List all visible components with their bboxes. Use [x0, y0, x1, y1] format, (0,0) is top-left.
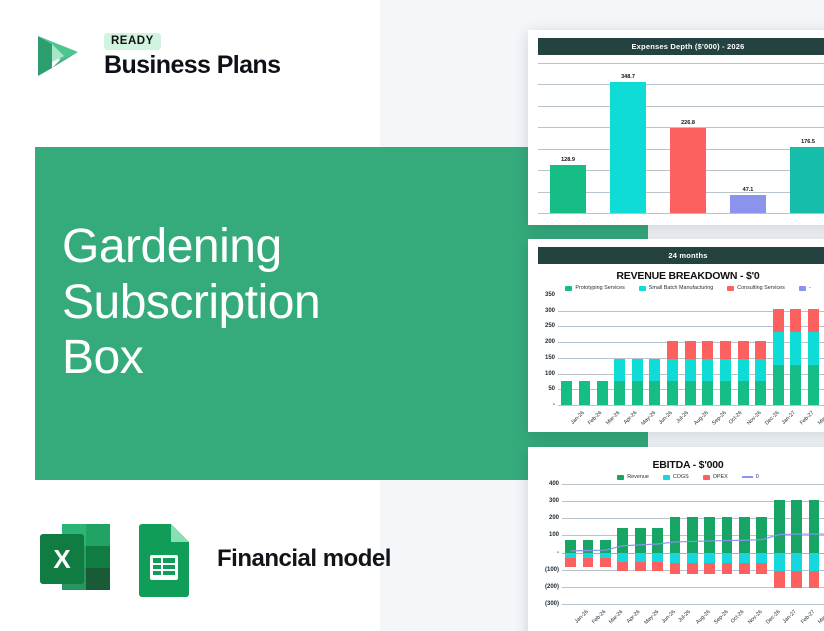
x-axis-tick: Sep-26	[711, 410, 728, 427]
chart-title-expenses: Expenses Depth ($'000) - 2026	[538, 38, 824, 55]
bar-segment	[667, 341, 678, 360]
legend-label: 0	[756, 474, 759, 480]
legend-swatch	[639, 286, 646, 291]
legend-item: -	[799, 285, 811, 291]
ready-badge: READY	[104, 33, 161, 51]
footer-label: Financial model	[217, 545, 391, 573]
bar: 128.9	[550, 165, 586, 213]
x-axis-tick: Jun-26	[658, 410, 674, 426]
bar-segment	[649, 359, 660, 381]
x-axis-tick: Aug-26	[693, 410, 710, 427]
bar-segment	[685, 341, 696, 360]
bar-segment	[738, 381, 749, 405]
grid-line	[558, 311, 824, 312]
bar-segment	[597, 381, 608, 405]
bar-segment	[808, 332, 819, 365]
x-axis-tick: Nov-26	[748, 609, 765, 626]
y-axis-tick: (200)	[545, 584, 559, 590]
y-axis-tick: 100	[549, 532, 559, 538]
bar-segment	[685, 381, 696, 405]
x-axis-tick: May-26	[643, 609, 660, 626]
grid-line	[558, 405, 824, 406]
page-title: Gardening Subscription Box	[62, 219, 452, 386]
bar-segment	[790, 309, 801, 332]
bar-segment	[808, 365, 819, 405]
legend-label: OPEX	[713, 474, 728, 480]
bar-segment	[667, 359, 678, 381]
x-axis-tick: Feb-26	[587, 410, 603, 426]
x-axis-tick: Feb-27	[799, 410, 815, 426]
legend-label: Small Batch Manufacturing	[649, 285, 713, 291]
x-axis-tick: Jul-26	[677, 609, 692, 624]
svg-text:X: X	[53, 544, 71, 574]
y-axis-tick: 400	[549, 481, 559, 487]
bar-segment	[808, 309, 819, 332]
chart-plot-revenue: 35030025020015010050-Jan-26Feb-26Mar-26A…	[558, 295, 824, 405]
legend-item: Revenue	[617, 474, 649, 480]
x-axis-tick: Jun-26	[660, 609, 676, 625]
y-axis-tick: 300	[545, 308, 555, 314]
legend-swatch	[565, 286, 572, 291]
bar-value-label: 176.5	[801, 139, 815, 145]
legend-label: Prototyping Services	[575, 285, 624, 291]
bar-segment	[755, 341, 766, 360]
bar-segment	[720, 381, 731, 405]
x-axis-tick: Jan-27	[781, 410, 797, 426]
legend-item: Small Batch Manufacturing	[639, 285, 713, 291]
chart-plot-ebitda: 400300200100-(100)(200)(300)Jan-26Feb-26…	[562, 484, 824, 604]
legend-label: -	[809, 285, 811, 291]
legend-item: Prototyping Services	[565, 285, 624, 291]
grid-line	[538, 84, 824, 85]
chart-card-ebitda[interactable]: EBITDA - $'000 RevenueCOGSOPEX0 40030020…	[528, 447, 824, 631]
grid-line	[538, 63, 824, 64]
x-axis-tick: Mar-27	[817, 410, 824, 426]
x-axis-tick: Oct-26	[728, 410, 744, 426]
bar-segment	[702, 341, 713, 360]
x-axis-tick: May-26	[641, 410, 658, 427]
chart-plot-expenses: 128.9348.7226.847.1176.5	[538, 63, 824, 213]
grid-line	[538, 106, 824, 107]
ebitda-zero-line	[562, 484, 824, 604]
chart-card-revenue[interactable]: 24 months REVENUE BREAKDOWN - $'0 Protot…	[528, 239, 824, 432]
grid-line	[538, 213, 824, 214]
bar-segment	[702, 359, 713, 381]
bar-value-label: 128.9	[561, 157, 575, 163]
legend-swatch	[703, 475, 710, 480]
legend-item: COGS	[663, 474, 689, 480]
legend-swatch	[663, 475, 670, 480]
grid-line	[562, 604, 824, 605]
legend-item: 0	[742, 474, 759, 480]
bar-segment	[561, 381, 572, 405]
bar-segment	[738, 359, 749, 381]
x-axis-tick: Jan-26	[574, 609, 590, 625]
bar-segment	[685, 359, 696, 381]
bar: 348.7	[610, 82, 646, 213]
legend-swatch	[727, 286, 734, 291]
chart-header-revenue: 24 months	[538, 247, 824, 264]
x-axis-tick: Sep-26	[713, 609, 730, 626]
legend-line-swatch	[742, 476, 753, 478]
chart-legend-ebitda: RevenueCOGSOPEX0	[528, 474, 824, 480]
chart-legend-revenue: Prototyping ServicesSmall Batch Manufact…	[528, 285, 824, 291]
bar-segment	[773, 332, 784, 365]
brand-logo-block: READY Business Plans	[30, 26, 280, 86]
x-axis-tick: Feb-26	[591, 609, 607, 625]
x-axis-tick: Jan-27	[782, 609, 798, 625]
legend-swatch	[799, 286, 806, 291]
bar-value-label: 226.8	[681, 120, 695, 126]
x-axis-tick: Oct-26	[730, 609, 746, 625]
chart-card-expenses[interactable]: Expenses Depth ($'000) - 2026 128.9348.7…	[528, 30, 824, 225]
google-sheets-icon	[133, 520, 195, 598]
x-axis-tick: Apr-26	[626, 609, 642, 625]
play-triangle-logo-icon	[30, 26, 90, 86]
legend-item: OPEX	[703, 474, 728, 480]
bar-segment	[649, 381, 660, 405]
x-axis-tick: Feb-27	[800, 609, 816, 625]
bar-value-label: 348.7	[621, 74, 635, 80]
footer-row: X Financial model	[32, 520, 391, 598]
x-axis-tick: Dec-26	[764, 410, 781, 427]
grid-line	[558, 326, 824, 327]
y-axis-tick: 50	[548, 386, 555, 392]
bar-segment	[579, 381, 590, 405]
bar-segment	[790, 365, 801, 405]
bar-segment	[720, 359, 731, 381]
bar-value-label: 47.1	[743, 187, 754, 193]
bar-segment	[790, 332, 801, 365]
brand-name: Business Plans	[104, 52, 280, 80]
x-axis-tick: Mar-26	[608, 609, 624, 625]
y-axis-tick: -	[553, 402, 555, 408]
y-axis-tick: 300	[549, 498, 559, 504]
bar-segment	[720, 341, 731, 360]
legend-swatch	[617, 475, 624, 480]
x-axis-tick: Mar-26	[605, 410, 621, 426]
y-axis-tick: 350	[545, 292, 555, 298]
y-axis-tick: 250	[545, 323, 555, 329]
x-axis-tick: Apr-26	[622, 410, 638, 426]
y-axis-tick: 200	[549, 515, 559, 521]
legend-item: Consulting Services	[727, 285, 785, 291]
microsoft-excel-icon: X	[32, 520, 117, 598]
bar-segment	[773, 309, 784, 332]
bar: 176.5	[790, 147, 824, 213]
legend-label: Revenue	[627, 474, 649, 480]
bar: 226.8	[670, 128, 706, 213]
bar-segment	[667, 381, 678, 405]
bar-segment	[632, 381, 643, 405]
chart-title-revenue: REVENUE BREAKDOWN - $'0	[528, 270, 824, 282]
bar-segment	[755, 381, 766, 405]
chart-title-ebitda: EBITDA - $'000	[528, 459, 824, 471]
y-axis-tick: 200	[545, 339, 555, 345]
x-axis-tick: Dec-26	[765, 609, 782, 626]
y-axis-tick: 100	[545, 371, 555, 377]
bar-segment	[632, 359, 643, 381]
bar-segment	[702, 381, 713, 405]
x-axis-tick: Nov-26	[746, 410, 763, 427]
x-axis-tick: Aug-26	[695, 609, 712, 626]
legend-label: Consulting Services	[737, 285, 785, 291]
bar-segment	[614, 359, 625, 381]
bar-segment	[755, 359, 766, 381]
x-axis-tick: Jul-26	[675, 410, 690, 425]
bar-segment	[773, 365, 784, 405]
legend-label: COGS	[673, 474, 689, 480]
bar-segment	[614, 381, 625, 405]
y-axis-tick: 150	[545, 355, 555, 361]
bar-segment	[738, 341, 749, 360]
y-axis-tick: (100)	[545, 567, 559, 573]
x-axis-tick: Jan-26	[570, 410, 586, 426]
y-axis-tick: -	[557, 550, 559, 556]
bar: 47.1	[730, 195, 766, 213]
y-axis-tick: (300)	[545, 601, 559, 607]
x-axis-tick: Mar-27	[817, 609, 824, 625]
